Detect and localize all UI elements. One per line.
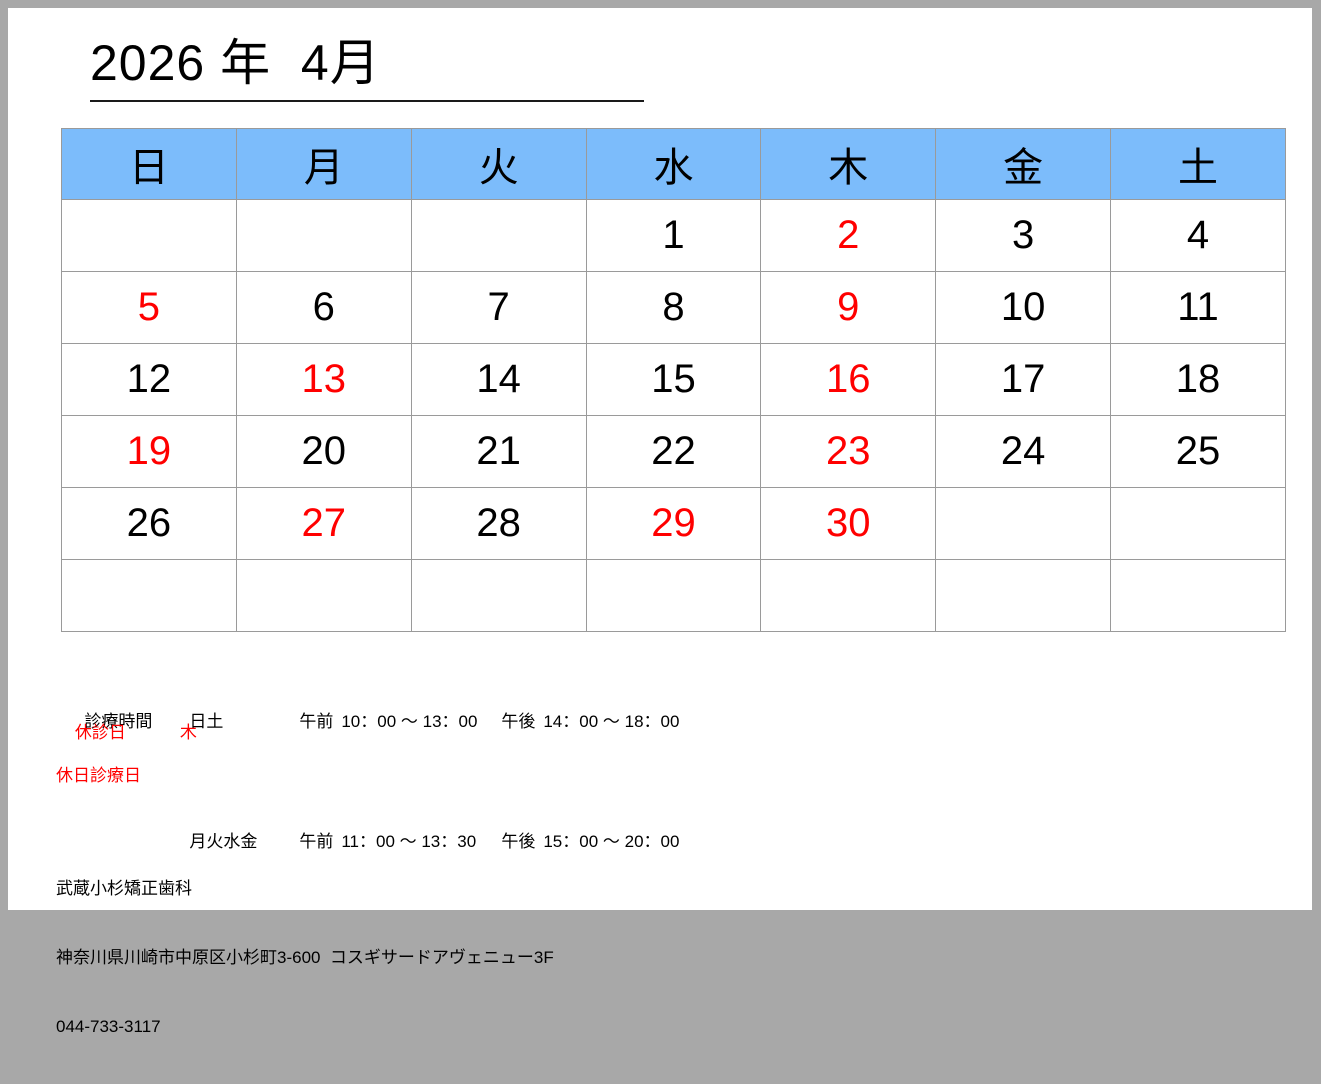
weekday-header-thu: 木: [761, 129, 936, 200]
day-cell[interactable]: 22: [586, 416, 761, 488]
weekday-header-fri: 金: [936, 129, 1111, 200]
clinic-phone: 044-733-3117: [56, 1015, 554, 1038]
day-cell[interactable]: [761, 560, 936, 632]
day-cell[interactable]: [411, 200, 586, 272]
day-cell[interactable]: 15: [586, 344, 761, 416]
calendar-week-row: [62, 560, 1286, 632]
day-cell[interactable]: 23: [761, 416, 936, 488]
day-cell[interactable]: 29: [586, 488, 761, 560]
day-cell[interactable]: [411, 560, 586, 632]
day-cell[interactable]: 30: [761, 488, 936, 560]
day-cell[interactable]: [1111, 488, 1286, 560]
day-cell[interactable]: 13: [236, 344, 411, 416]
calendar-body: 1 2 3 4 5 6 7 8 9 10 11 12 13 14 15 16 1…: [62, 200, 1286, 632]
page-title-text: 2026 年 4月: [90, 30, 644, 96]
day-cell[interactable]: 8: [586, 272, 761, 344]
day-cell[interactable]: 2: [761, 200, 936, 272]
calendar-table: 日 月 火 水 木 金 土 1 2 3 4 5 6 7: [61, 128, 1286, 632]
closed-day-label: 休診日: [75, 718, 180, 743]
calendar-week-row: 5 6 7 8 9 10 11: [62, 272, 1286, 344]
day-cell[interactable]: 14: [411, 344, 586, 416]
day-cell[interactable]: [62, 200, 237, 272]
day-cell[interactable]: 11: [1111, 272, 1286, 344]
clinic-name: 武蔵小杉矯正歯科: [56, 877, 554, 900]
day-cell[interactable]: 20: [236, 416, 411, 488]
calendar-sheet: 2026 年 4月 日 月 火 水 木 金 土 1 2 3 4: [8, 8, 1312, 910]
day-cell[interactable]: 19: [62, 416, 237, 488]
weekday-header-wed: 水: [586, 129, 761, 200]
day-cell[interactable]: [62, 560, 237, 632]
day-cell[interactable]: [936, 488, 1111, 560]
day-cell[interactable]: 3: [936, 200, 1111, 272]
weekday-header-sat: 土: [1111, 129, 1286, 200]
day-cell[interactable]: [236, 560, 411, 632]
day-cell[interactable]: 4: [1111, 200, 1286, 272]
day-cell[interactable]: 21: [411, 416, 586, 488]
day-cell[interactable]: 16: [761, 344, 936, 416]
clinic-address: 神奈川県川崎市中原区小杉町3-600 コスギサードアヴェニュー3F: [56, 946, 554, 969]
day-cell[interactable]: 28: [411, 488, 586, 560]
hours-pm-time: 15：00 ～ 20：00: [543, 830, 679, 854]
day-cell[interactable]: [936, 560, 1111, 632]
holiday-service-label: 休日診療日: [56, 761, 141, 786]
day-cell[interactable]: [236, 200, 411, 272]
day-cell[interactable]: [586, 560, 761, 632]
hours-pm-label: 午後: [501, 710, 543, 734]
day-cell[interactable]: 5: [62, 272, 237, 344]
day-cell[interactable]: 9: [761, 272, 936, 344]
closed-day-value: 木: [180, 723, 197, 742]
day-cell[interactable]: 24: [936, 416, 1111, 488]
day-cell[interactable]: 27: [236, 488, 411, 560]
closed-day-line: 休診日木: [56, 698, 197, 763]
day-cell[interactable]: 25: [1111, 416, 1286, 488]
weekday-header-sun: 日: [62, 129, 237, 200]
hours-am-time: 10：00 ～ 13：00: [341, 710, 501, 734]
day-cell[interactable]: 17: [936, 344, 1111, 416]
weekday-header-mon: 月: [236, 129, 411, 200]
day-cell[interactable]: 26: [62, 488, 237, 560]
day-cell[interactable]: 18: [1111, 344, 1286, 416]
clinic-info: 武蔵小杉矯正歯科 神奈川県川崎市中原区小杉町3-600 コスギサードアヴェニュー…: [56, 831, 554, 1084]
day-cell[interactable]: 10: [936, 272, 1111, 344]
calendar-week-row: 26 27 28 29 30: [62, 488, 1286, 560]
hours-pm-time: 14：00 ～ 18：00: [543, 710, 679, 734]
calendar-week-row: 1 2 3 4: [62, 200, 1286, 272]
day-cell[interactable]: 12: [62, 344, 237, 416]
hours-am-label: 午前: [299, 710, 341, 734]
day-cell[interactable]: [1111, 560, 1286, 632]
hours-days: 日土: [189, 710, 299, 734]
day-cell[interactable]: 7: [411, 272, 586, 344]
calendar-week-row: 19 20 21 22 23 24 25: [62, 416, 1286, 488]
calendar-week-row: 12 13 14 15 16 17 18: [62, 344, 1286, 416]
calendar-header-row: 日 月 火 水 木 金 土: [62, 129, 1286, 200]
day-cell[interactable]: 1: [586, 200, 761, 272]
weekday-header-tue: 火: [411, 129, 586, 200]
day-cell[interactable]: 6: [236, 272, 411, 344]
page-title: 2026 年 4月: [90, 30, 644, 102]
